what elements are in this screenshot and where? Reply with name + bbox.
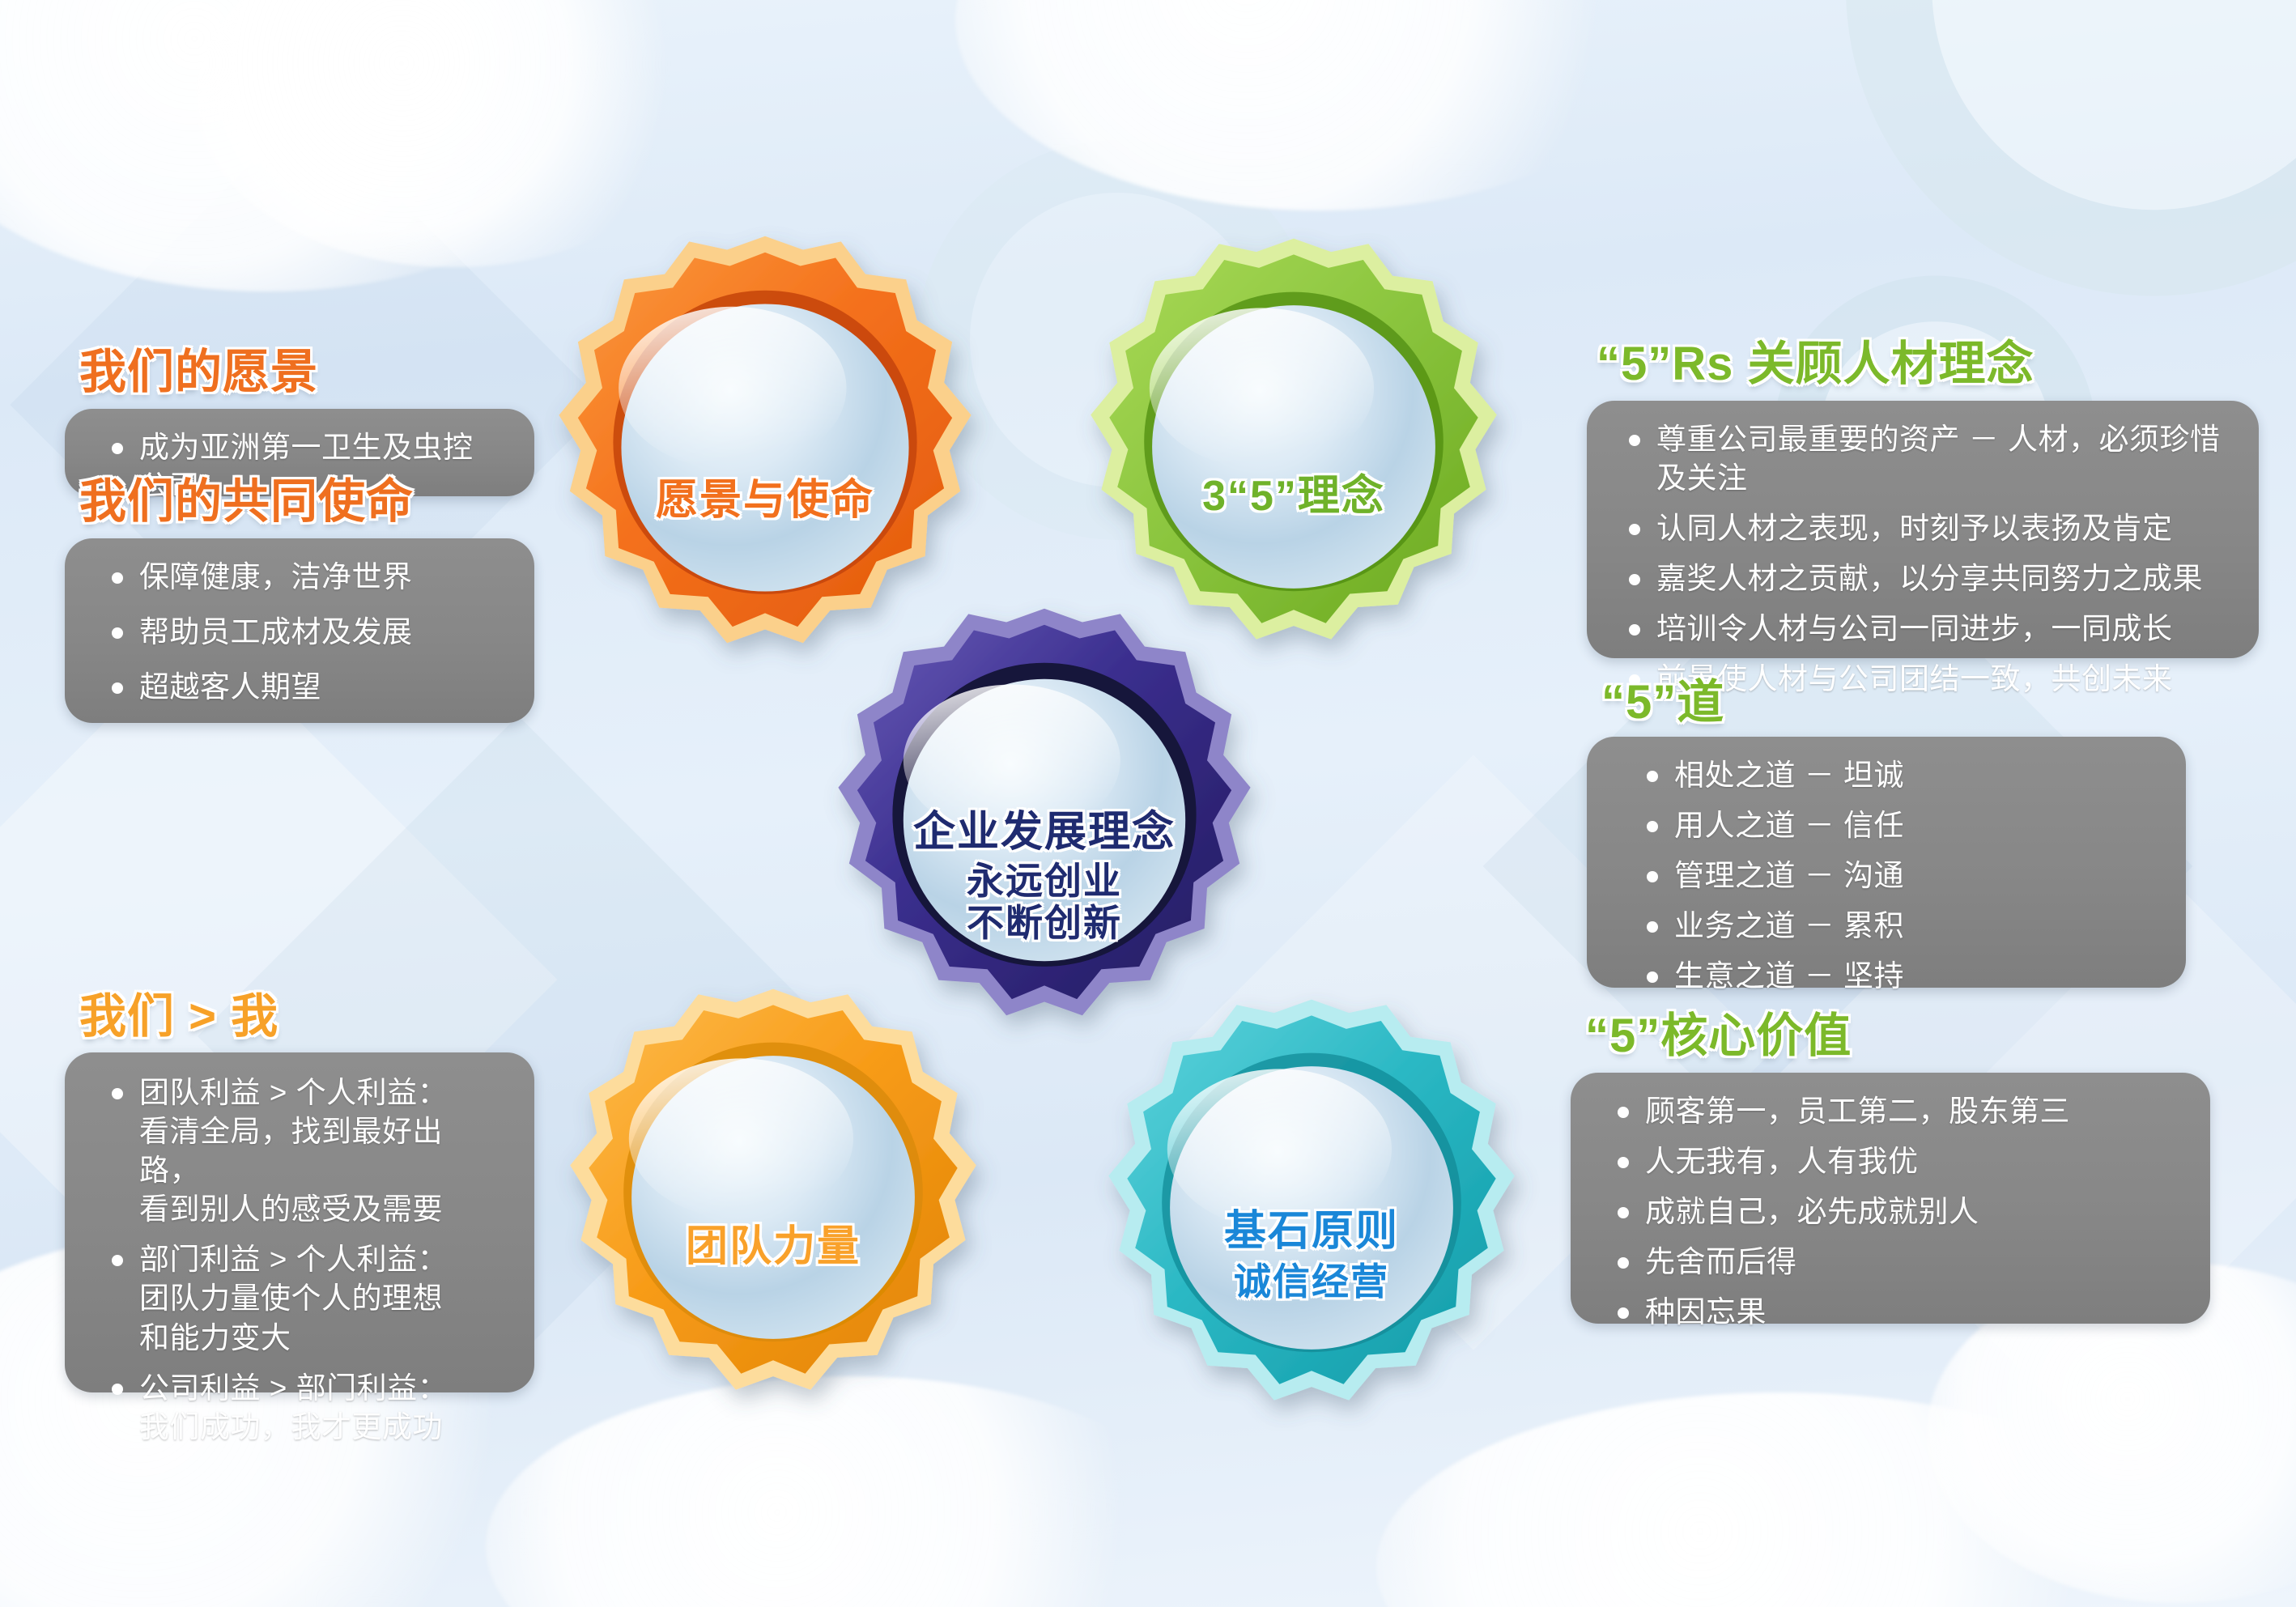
- list-we-greater-than-me: 团队利益 > 个人利益： 看清全局，找到最好出路， 看到别人的感受及需要 部门利…: [107, 1073, 502, 1447]
- panel-our-shared-mission: 保障健康，洁净世界 帮助员工成材及发展 超越客人期望: [65, 538, 534, 723]
- list-item: 公司利益 > 部门利益： 我们成功，我才更成功: [107, 1369, 502, 1447]
- panel-five-rs-talent-care: 尊重公司最重要的资产 － 人材，必须珍惜及关注 认同人材之表现，时刻予以表扬及肯…: [1587, 401, 2259, 658]
- list-item: 种因忘果: [1613, 1293, 2186, 1332]
- list-item: 认同人材之表现，时刻予以表扬及肯定: [1624, 509, 2234, 548]
- gear-corporate-development-philosophy: 企业发展理念 永远创业 不断创新: [773, 603, 1316, 1146]
- list-item: 超越客人期望: [107, 668, 502, 707]
- list-item: 相处之道 － 坦诚: [1642, 756, 2162, 795]
- panel-five-ways: 相处之道 － 坦诚 用人之道 － 信任 管理之道 － 沟通 业务之道 － 累积 …: [1587, 737, 2186, 988]
- heading-five-ways: “5”道: [1601, 664, 1724, 732]
- heading-five-core-values: “5”核心价值: [1585, 997, 1852, 1065]
- heading-our-vision: 我们的愿景: [79, 334, 318, 402]
- list-item: 人无我有，人有我优: [1613, 1142, 2186, 1181]
- list-item: 保障健康，洁净世界: [107, 558, 502, 597]
- panel-five-core-values: 顾客第一，员工第二，股东第三 人无我有，人有我优 成就自己，必先成就别人 先舍而…: [1571, 1073, 2210, 1324]
- list-item: 先舍而后得: [1613, 1243, 2186, 1282]
- list-item: 顾客第一，员工第二，股东第三: [1613, 1092, 2186, 1131]
- list-item: 业务之道 － 累积: [1642, 907, 2162, 946]
- infographic-canvas: 成为亚洲第一卫生及虫控公司 保障健康，洁净世界 帮助员工成材及发展 超越客人期望…: [0, 0, 2296, 1607]
- list-item: 管理之道 － 沟通: [1642, 857, 2162, 895]
- list-item: 用人之道 － 信任: [1642, 806, 2162, 845]
- panel-we-greater-than-me: 团队利益 > 个人利益： 看清全局，找到最好出路， 看到别人的感受及需要 部门利…: [65, 1052, 534, 1392]
- list-five-rs: 尊重公司最重要的资产 － 人材，必须珍惜及关注 认同人材之表现，时刻予以表扬及肯…: [1624, 420, 2234, 699]
- heading-five-rs-talent-care: “5”Rs 关顾人材理念: [1597, 325, 2035, 393]
- heading-we-greater-than-me: 我们 > 我: [79, 978, 278, 1046]
- list-five-core-values: 顾客第一，员工第二，股东第三 人无我有，人有我优 成就自己，必先成就别人 先舍而…: [1613, 1092, 2186, 1332]
- list-item: 生意之道 － 坚持: [1642, 957, 2162, 996]
- list-item: 帮助员工成材及发展: [107, 613, 502, 652]
- list-item: 尊重公司最重要的资产 － 人材，必须珍惜及关注: [1624, 420, 2234, 498]
- list-item: 部门利益 > 个人利益： 团队力量使个人的理想 和能力变大: [107, 1240, 502, 1357]
- list-five-ways: 相处之道 － 坦诚 用人之道 － 信任 管理之道 － 沟通 业务之道 － 累积 …: [1642, 756, 2162, 996]
- list-item: 培训令人材与公司一同进步，一同成长: [1624, 610, 2234, 648]
- list-item: 成就自己，必先成就别人: [1613, 1192, 2186, 1231]
- list-item: 嘉奖人材之贡献，以分享共同努力之成果: [1624, 559, 2234, 598]
- list-item: 团队利益 > 个人利益： 看清全局，找到最好出路， 看到别人的感受及需要: [107, 1073, 502, 1229]
- list-our-shared-mission: 保障健康，洁净世界 帮助员工成材及发展 超越客人期望: [107, 558, 502, 707]
- heading-our-shared-mission: 我们的共同使命: [79, 463, 414, 531]
